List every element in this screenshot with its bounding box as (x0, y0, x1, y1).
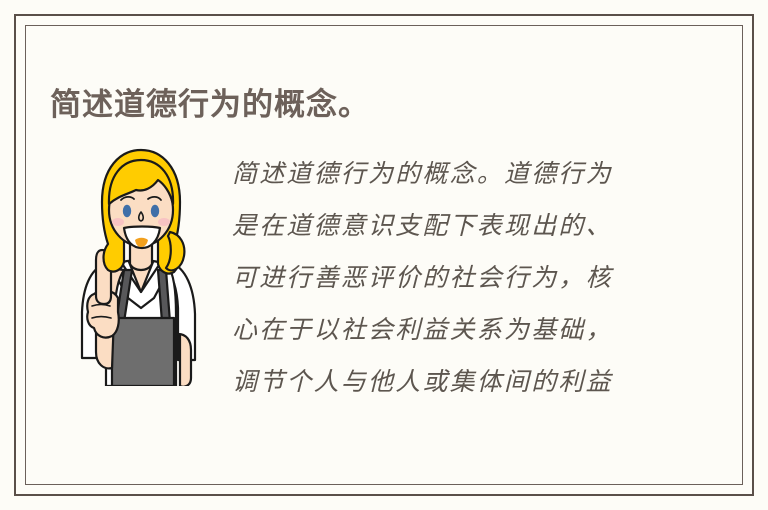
eye-right (151, 205, 159, 217)
body-line: 简述道德行为的概念。道德行为 (232, 148, 662, 200)
right-forearm (178, 334, 191, 386)
page-root: 简述道德行为的概念。 (0, 0, 768, 510)
cartoon-woman-svg (74, 146, 208, 386)
cheek-left (112, 218, 124, 226)
content-area: 简述道德行为的概念。 (24, 24, 744, 486)
eye-left (123, 205, 131, 217)
apron-body (112, 318, 174, 386)
body-line: 心在于以社会利益关系为基础， (232, 304, 662, 356)
cheek-right (158, 218, 170, 226)
page-title: 简述道德行为的概念。 (50, 87, 370, 123)
body-line: 可进行善恶评价的社会行为，核 (232, 252, 662, 304)
illustration-cartoon-woman (74, 146, 208, 386)
body-line: 是在道德意识支配下表现出的、 (232, 200, 662, 252)
body-paragraph: 简述道德行为的概念。道德行为 是在道德意识支配下表现出的、 可进行善恶评价的社会… (232, 148, 662, 408)
nose (139, 212, 144, 221)
body-line: 调节个人与他人或集体间的利益 (232, 356, 662, 408)
